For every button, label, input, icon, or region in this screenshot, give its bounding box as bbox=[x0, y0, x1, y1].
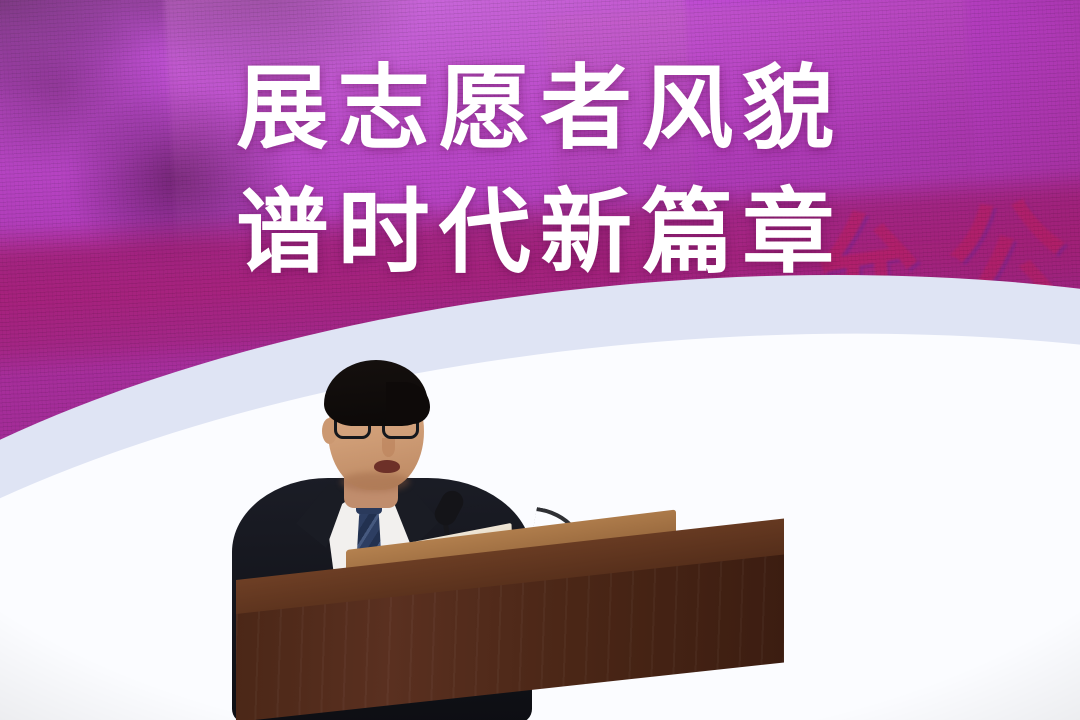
chin-shadow bbox=[340, 472, 410, 492]
hair bbox=[324, 360, 428, 426]
mouth bbox=[374, 460, 400, 473]
slide-headline-line2: 谱时代新篇章 bbox=[0, 186, 1080, 280]
nose bbox=[382, 438, 395, 457]
slide-affiliation-line: 金融学院2021级本科保险学本科生 bbox=[0, 428, 1080, 492]
wooden-lectern bbox=[228, 550, 788, 720]
presentation-photo: 允 公 允 新 月 异 展志愿者风貌 谱时代新篇章 展示人：韩啸宇 金融学院20… bbox=[0, 0, 1080, 720]
slide-presenter-line: 展示人：韩啸宇 bbox=[0, 352, 1080, 418]
slide-headline-line1: 展志愿者风貌 bbox=[0, 62, 1080, 156]
